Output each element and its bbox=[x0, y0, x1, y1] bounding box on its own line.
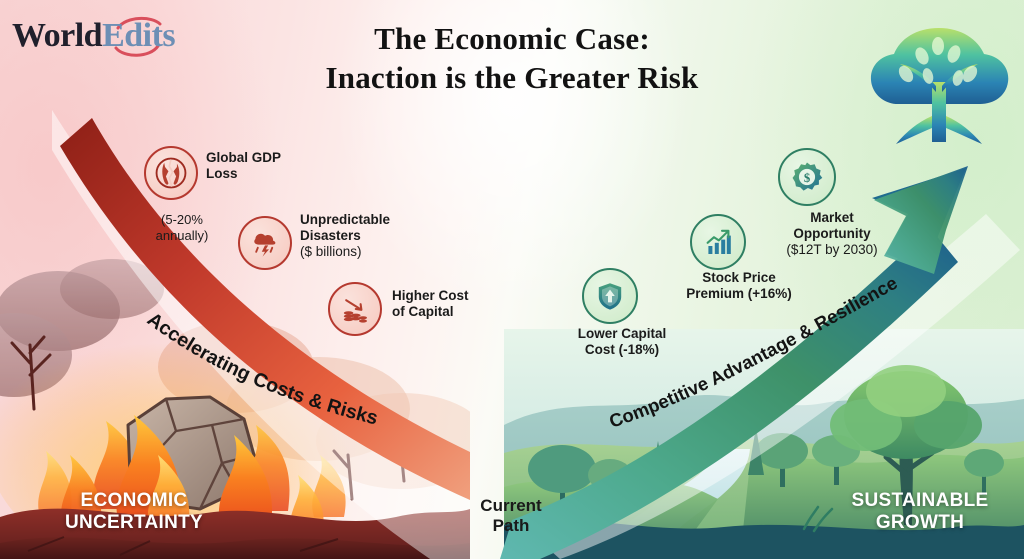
opportunity-item-2-line-1: Stock Price bbox=[702, 270, 776, 285]
current-path-line-2: Path bbox=[493, 516, 530, 535]
opportunity-item-2-line-2: Premium (+16%) bbox=[686, 286, 791, 301]
storm-cloud-glyph bbox=[249, 227, 281, 259]
opportunity-item-1-label: Lower Capital Cost (-18%) bbox=[562, 326, 682, 358]
opportunity-item-3-label: Market Opportunity ($12T by 2030) bbox=[752, 210, 912, 259]
risk-item-1-note-2: annually) bbox=[156, 228, 209, 243]
current-path-line-1: Current bbox=[480, 496, 541, 515]
risk-item-1-note-1: (5-20% bbox=[161, 212, 203, 227]
title-line-1: The Economic Case: bbox=[374, 21, 650, 56]
gear-dollar-glyph: $ bbox=[790, 160, 824, 194]
logo-word-edits: Edits bbox=[102, 17, 175, 54]
opportunity-item-3-line-1: Market bbox=[810, 210, 854, 225]
risk-item-2-label: Unpredictable Disasters ($ billions) bbox=[300, 212, 430, 261]
outcome-left-line-2: UNCERTAINTY bbox=[65, 512, 203, 533]
shield-up-arrow-glyph bbox=[594, 280, 626, 312]
current-path-caption: Current Path bbox=[446, 496, 576, 537]
page-title: The Economic Case: Inaction is the Great… bbox=[326, 20, 699, 98]
svg-text:$: $ bbox=[804, 171, 811, 185]
risk-item-2-line-3: ($ billions) bbox=[300, 244, 362, 259]
logo-word-world: World bbox=[12, 17, 102, 54]
cracked-globe-icon bbox=[144, 146, 198, 200]
risk-item-3-label: Higher Cost of Capital bbox=[392, 288, 512, 320]
outcome-left-line-1: ECONOMIC bbox=[81, 490, 188, 511]
opportunity-item-3-line-2: Opportunity bbox=[793, 226, 870, 241]
risk-item-1-line-2: Loss bbox=[206, 166, 238, 181]
bar-chart-up-glyph bbox=[702, 226, 734, 258]
title-line-2: Inaction is the Greater Risk bbox=[326, 59, 699, 98]
risk-item-2-line-2: Disasters bbox=[300, 228, 361, 243]
opportunity-item-3-line-3: ($12T by 2030) bbox=[786, 242, 877, 257]
opportunity-item-1-line-2: Cost (-18%) bbox=[585, 342, 659, 357]
brand-logo[interactable]: WorldEdits bbox=[12, 12, 212, 60]
risk-item-1-line-1: Global GDP bbox=[206, 150, 281, 165]
bar-chart-up-icon bbox=[690, 214, 746, 270]
outcome-right-line-1: SUSTAINABLE bbox=[851, 490, 988, 511]
storm-cloud-icon bbox=[238, 216, 292, 270]
shield-up-arrow-icon bbox=[582, 268, 638, 324]
outcome-right-caption: SUSTAINABLE GROWTH bbox=[830, 490, 1010, 535]
infographic-canvas: WorldEdits The Economic Case: Inaction i… bbox=[0, 0, 1024, 559]
outcome-left-caption: ECONOMIC UNCERTAINTY bbox=[34, 490, 234, 535]
opportunity-item-2-label: Stock Price Premium (+16%) bbox=[664, 270, 814, 302]
risk-item-1-label: Global GDP Loss bbox=[206, 150, 326, 182]
opportunity-item-1-line-1: Lower Capital bbox=[578, 326, 667, 341]
risk-item-3-line-2: of Capital bbox=[392, 304, 454, 319]
outcome-right-line-2: GROWTH bbox=[876, 512, 964, 533]
coins-down-arrow-icon bbox=[328, 282, 382, 336]
cracked-globe-glyph bbox=[154, 156, 188, 190]
risk-item-2-line-1: Unpredictable bbox=[300, 212, 390, 227]
risk-item-3-line-1: Higher Cost bbox=[392, 288, 469, 303]
coins-down-arrow-glyph bbox=[339, 293, 371, 325]
gear-dollar-icon: $ bbox=[778, 148, 836, 206]
risk-item-1-note: (5-20% annually) bbox=[144, 212, 220, 243]
